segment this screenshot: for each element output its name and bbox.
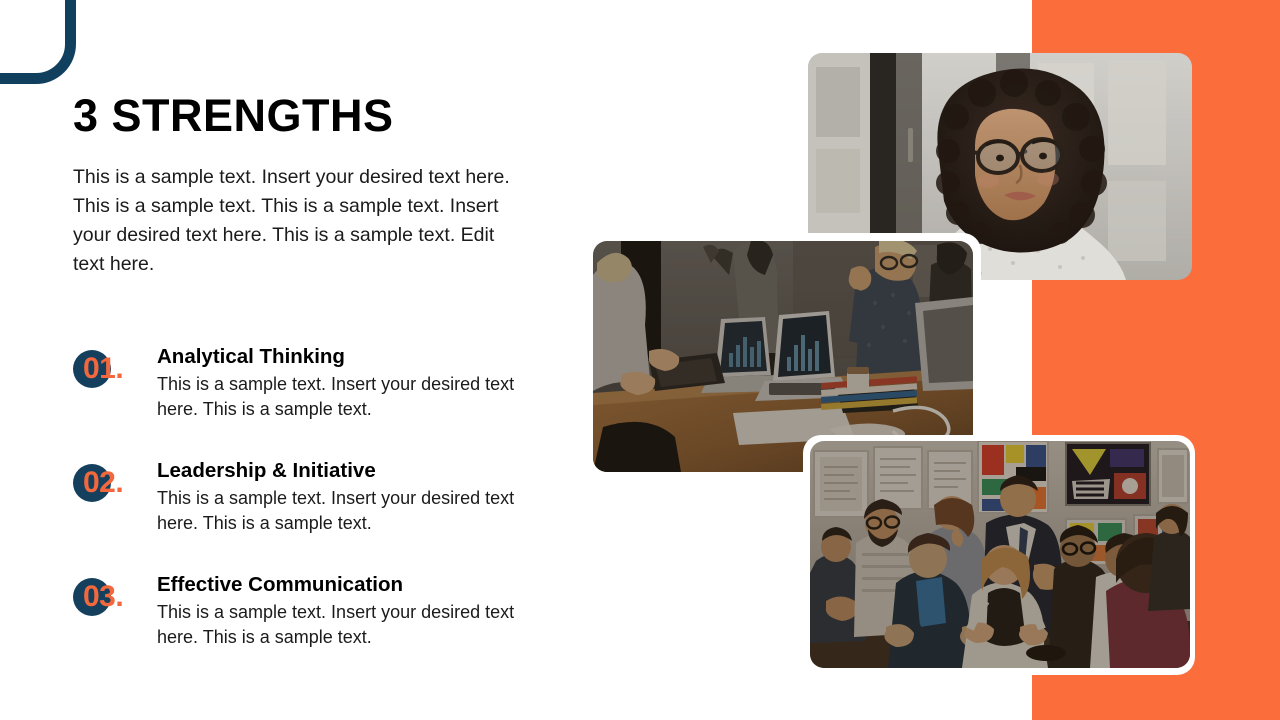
strength-description: This is a sample text. Insert your desir… <box>157 372 529 423</box>
list-item[interactable]: 02. Leadership & Initiative This is a sa… <box>73 458 543 554</box>
number-label: 02. <box>83 463 123 503</box>
number-badge: 03. <box>73 578 147 622</box>
list-item[interactable]: 01. Analytical Thinking This is a sample… <box>73 344 543 440</box>
page-title: 3 STRENGTHS <box>73 92 553 139</box>
strength-description: This is a sample text. Insert your desir… <box>157 600 529 651</box>
text-content-column: 3 STRENGTHS This is a sample text. Inser… <box>73 92 553 279</box>
strength-title: Leadership & Initiative <box>157 458 543 484</box>
number-label: 03. <box>83 577 123 617</box>
strength-title: Effective Communication <box>157 572 543 598</box>
list-item[interactable]: 03. Effective Communication This is a sa… <box>73 572 543 668</box>
photo-group-discussion-gallery <box>810 441 1190 668</box>
number-label: 01. <box>83 349 123 389</box>
intro-paragraph: This is a sample text. Insert your desir… <box>73 163 525 278</box>
strengths-list: 01. Analytical Thinking This is a sample… <box>73 344 543 668</box>
slide-canvas: 3 STRENGTHS This is a sample text. Inser… <box>0 0 1280 720</box>
number-badge: 02. <box>73 464 147 508</box>
strength-title: Analytical Thinking <box>157 344 543 370</box>
strength-description: This is a sample text. Insert your desir… <box>157 486 529 537</box>
navy-corner-arc-decoration <box>0 0 76 84</box>
group-discussion-gallery-image <box>810 441 1190 668</box>
number-badge: 01. <box>73 350 147 394</box>
